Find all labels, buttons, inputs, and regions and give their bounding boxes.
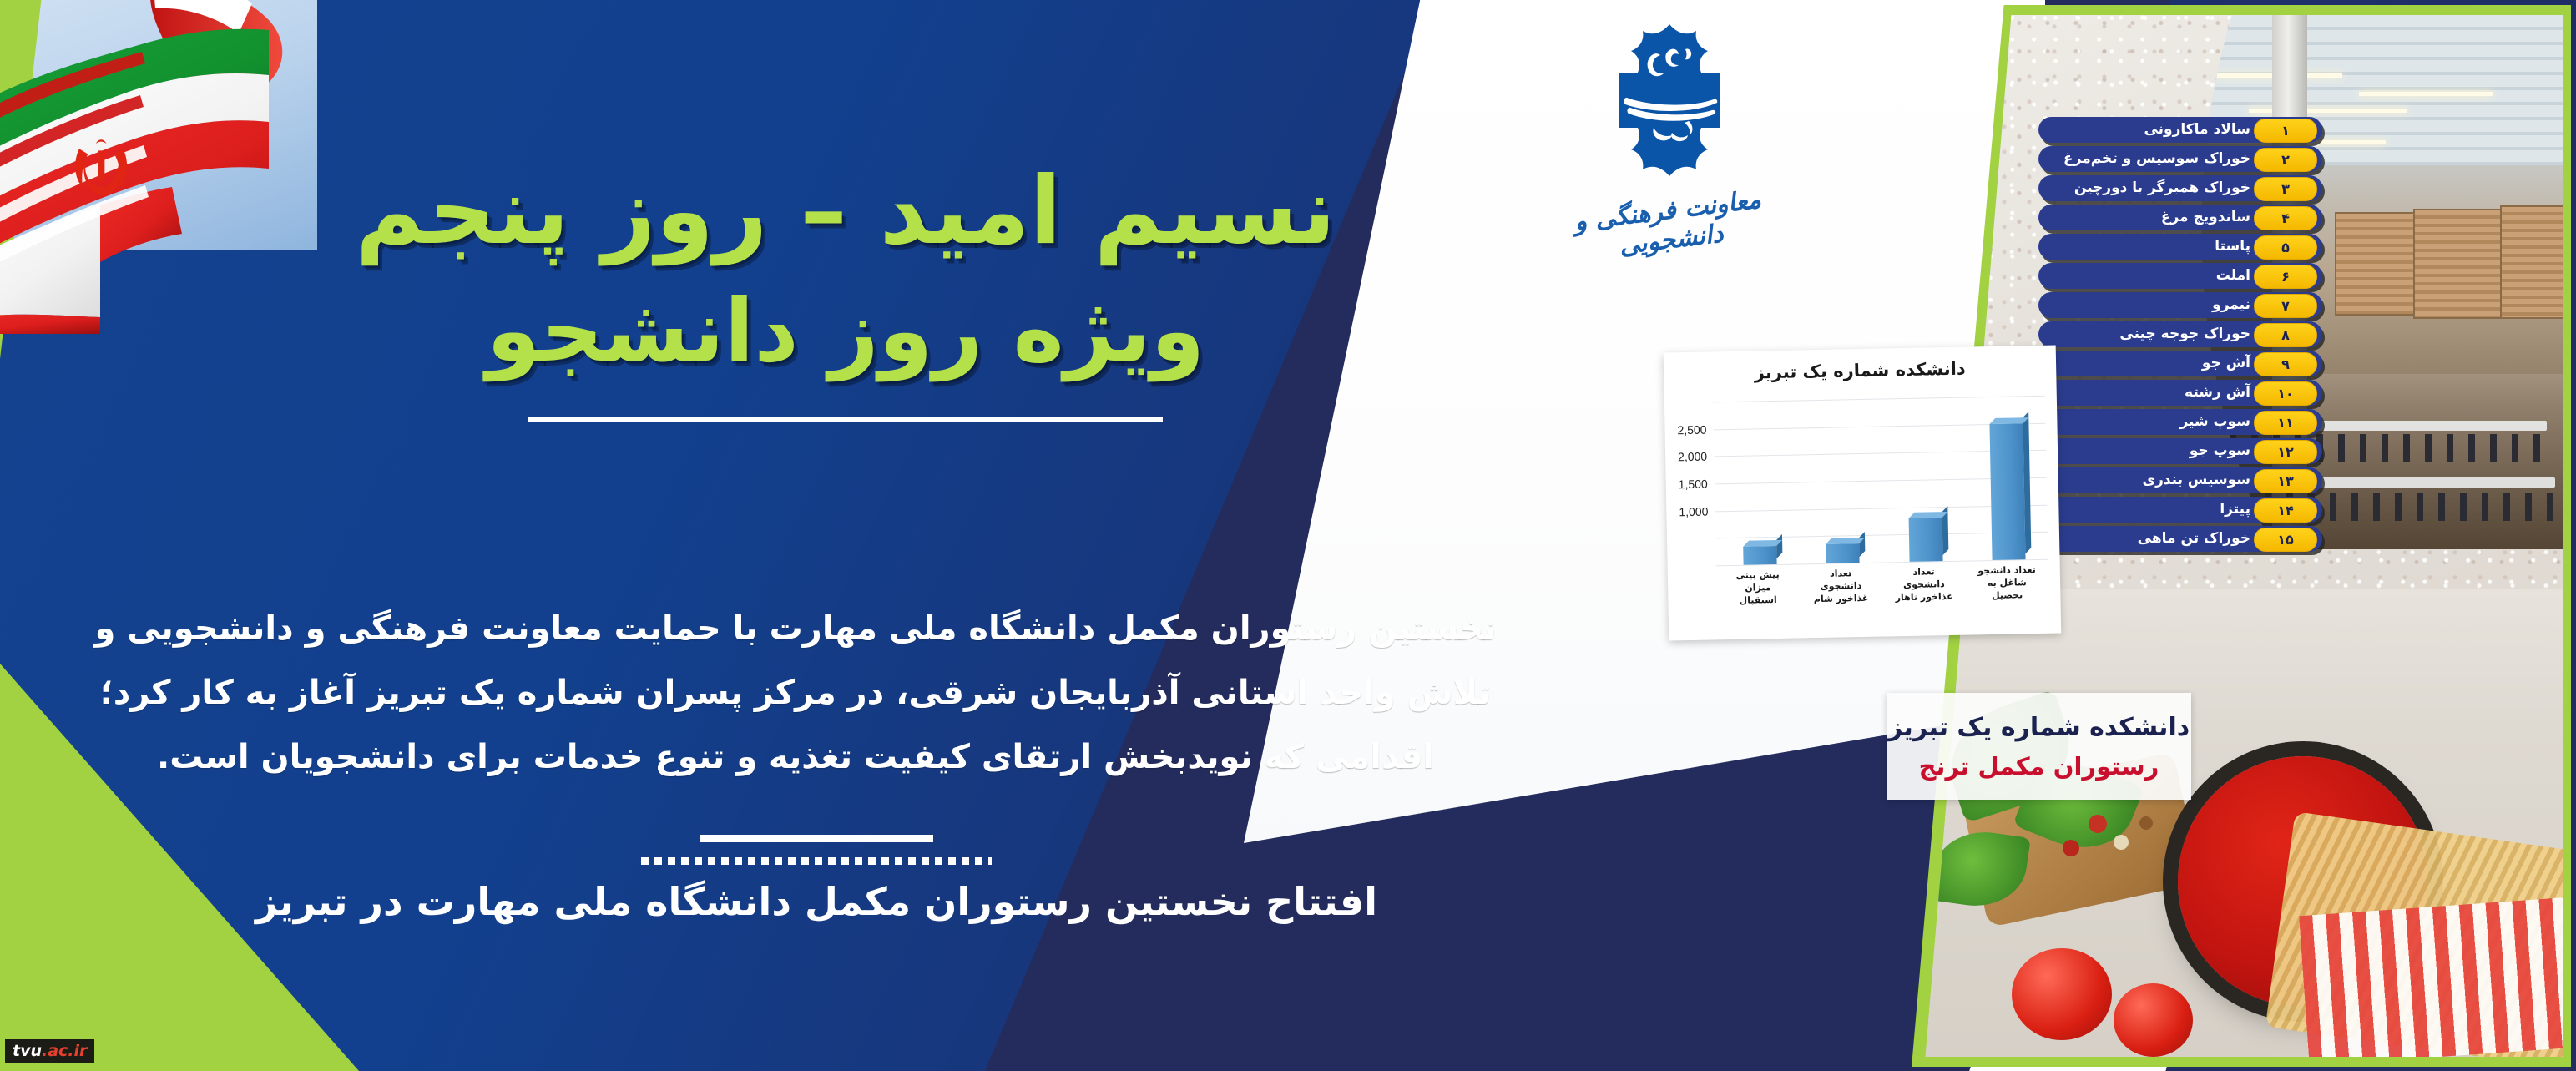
menu-item-number: ۹	[2254, 352, 2317, 376]
y-axis-tick: 1,500	[1679, 477, 1708, 492]
tomato	[2114, 983, 2193, 1057]
checkered-cloth	[2299, 897, 2563, 1057]
tomato	[2012, 948, 2112, 1040]
menu-item-2[interactable]: خوراک سوسیس و تخم‌مرغ ۲	[2038, 146, 2322, 172]
menu-item-10[interactable]: آش رشته ۱۰	[2038, 380, 2322, 406]
university-logo-block: معاونت فرهنگی و دانشجویی	[1519, 21, 1820, 255]
menu-item-number: ۱۲	[2254, 440, 2317, 464]
menu-item-number: ۶	[2254, 265, 2317, 289]
x-axis-label: پیش بینی میزان استقبال	[1728, 569, 1787, 608]
menu-item-14[interactable]: پیتزا ۱۴	[2038, 497, 2322, 523]
menu-item-15[interactable]: خوراک تن ماهی ۱۵	[2038, 526, 2322, 552]
bottom-caption-group: افتتاح نخستین رستوران مکمل دانشگاه ملی م…	[209, 835, 1424, 928]
menu-item-13[interactable]: سوسیس بندری ۱۳	[2038, 467, 2322, 493]
menu-item-label: ساندویچ مرغ	[2047, 205, 2250, 230]
caption-box-line-1: دانشکده شماره یک تبریز	[1888, 713, 2190, 742]
menu-item-number: ۴	[2254, 206, 2317, 230]
menu-item-label: سالاد ماکارونی	[2047, 117, 2250, 143]
food-photo	[1922, 589, 2563, 1057]
caption-box-line-2: رستوران مکمل ترنج	[1919, 752, 2159, 781]
x-axis-label: تعداد دانشجوی غذاخور ناهار	[1894, 566, 1953, 604]
x-axis-label: تعداد دانشجو شاغل به تحصیل	[1977, 564, 2037, 603]
menu-item-label: خوراک تن ماهی	[2047, 526, 2250, 552]
statistics-chart-card: دانشکده شماره یک تبریز 2,500 2,000 1,500…	[1664, 346, 2062, 641]
menu-item-label: آش جو	[2047, 351, 2250, 376]
ceiling-lamp	[2359, 92, 2493, 96]
menu-item-number: ۱۱	[2254, 411, 2317, 435]
y-axis-tick: 2,000	[1678, 450, 1707, 464]
menu-item-5[interactable]: پاستا ۵	[2038, 234, 2322, 260]
menu-item-number: ۳	[2254, 177, 2317, 201]
peppercorn	[2063, 840, 2079, 856]
menu-item-9[interactable]: آش جو ۹	[2038, 351, 2322, 376]
menu-item-label: خوراک سوسیس و تخم‌مرغ	[2047, 146, 2250, 172]
menu-item-4[interactable]: ساندویچ مرغ ۴	[2038, 205, 2322, 230]
bottom-caption-text: افتتاح نخستین رستوران مکمل دانشگاه ملی م…	[209, 875, 1424, 928]
menu-item-label: سوپ شیر	[2047, 409, 2250, 435]
headline-divider	[528, 417, 1163, 422]
menu-item-number: ۲	[2254, 148, 2317, 172]
window-blind	[2500, 205, 2563, 319]
headline-line-1: نسیم امید – روز پنجم	[142, 150, 1549, 274]
menu-item-label: خوراک جوجه چینی	[2047, 321, 2250, 347]
poster-canvas: نسیم امید – روز پنجم ویژه روز دانشجو نخس…	[0, 0, 2576, 1071]
menu-item-number: ۱۵	[2254, 528, 2317, 552]
menu-item-3[interactable]: خوراک همبرگر با دورچین ۳	[2038, 175, 2322, 201]
bar	[1990, 423, 2026, 560]
menu-item-11[interactable]: سوپ شیر ۱۱	[2038, 409, 2322, 435]
menu-item-label: نیمرو	[2047, 292, 2250, 318]
site-watermark: tvu.ac.ir	[5, 1039, 94, 1063]
caption-dotted-divider	[641, 857, 992, 865]
menu-item-label: سوپ جو	[2047, 438, 2250, 464]
bar	[1743, 546, 1776, 564]
bar-column-4	[1735, 401, 1777, 565]
menu-item-7[interactable]: نیمرو ۷	[2038, 292, 2322, 318]
bar-column-2	[1902, 397, 1943, 562]
menu-item-6[interactable]: املت ۶	[2038, 263, 2322, 289]
chart-bars	[1713, 396, 2048, 566]
menu-item-8[interactable]: خوراک جوجه چینی ۸	[2038, 321, 2322, 347]
y-axis-tick: 2,500	[1677, 422, 1706, 437]
peppercorn	[2139, 816, 2153, 830]
bar	[1826, 543, 1859, 563]
university-seal-icon	[1599, 21, 1740, 179]
menu-item-number: ۱۳	[2254, 469, 2317, 493]
watermark-name: tvu	[13, 1042, 42, 1060]
restaurant-caption-box: دانشکده شماره یک تبریز رستوران مکمل ترنج	[1887, 693, 2191, 800]
menu-item-label: پاستا	[2047, 234, 2250, 260]
chart-x-labels: تعداد دانشجو شاغل به تحصیل تعداد دانشجوی…	[1716, 564, 2049, 608]
menu-list: سالاد ماکارونی ۱ خوراک سوسیس و تخم‌مرغ ۲…	[2038, 117, 2322, 555]
menu-item-1[interactable]: سالاد ماکارونی ۱	[2038, 117, 2322, 143]
peppercorn	[2089, 815, 2107, 833]
menu-item-number: ۷	[2254, 294, 2317, 318]
menu-item-label: املت	[2047, 263, 2250, 289]
menu-item-label: سوسیس بندری	[2047, 467, 2250, 493]
menu-item-number: ۸	[2254, 323, 2317, 347]
bar	[1908, 518, 1942, 562]
menu-item-number: ۱۴	[2254, 498, 2317, 523]
x-axis-label: تعداد دانشجوی غذاخور شام	[1811, 568, 1871, 606]
menu-item-number: ۵	[2254, 235, 2317, 260]
headline-line-2: ویژه روز دانشجو	[142, 274, 1549, 388]
menu-item-label: آش رشته	[2047, 380, 2250, 406]
menu-item-label: پیتزا	[2047, 497, 2250, 523]
bar-column-3	[1818, 399, 1860, 563]
menu-item-number: ۱۰	[2254, 381, 2317, 406]
body-paragraph: نخستین رستوران مکمل دانشگاه ملی مهارت با…	[83, 597, 1508, 789]
bar-column-1	[1984, 396, 2026, 560]
headline-group: نسیم امید – روز پنجم ویژه روز دانشجو	[142, 150, 1549, 422]
y-axis-tick: 1,000	[1679, 504, 1708, 518]
menu-item-label: خوراک همبرگر با دورچین	[2047, 175, 2250, 201]
menu-item-number: ۱	[2254, 119, 2317, 143]
watermark-tld: .ac.ir	[42, 1042, 87, 1060]
chart-plot-area: 2,500 2,000 1,500 1,000	[1713, 396, 2048, 566]
menu-item-12[interactable]: سوپ جو ۱۲	[2038, 438, 2322, 464]
caption-solid-divider	[700, 835, 933, 842]
chart-title: دانشکده شماره یک تبریز	[1664, 357, 2056, 385]
